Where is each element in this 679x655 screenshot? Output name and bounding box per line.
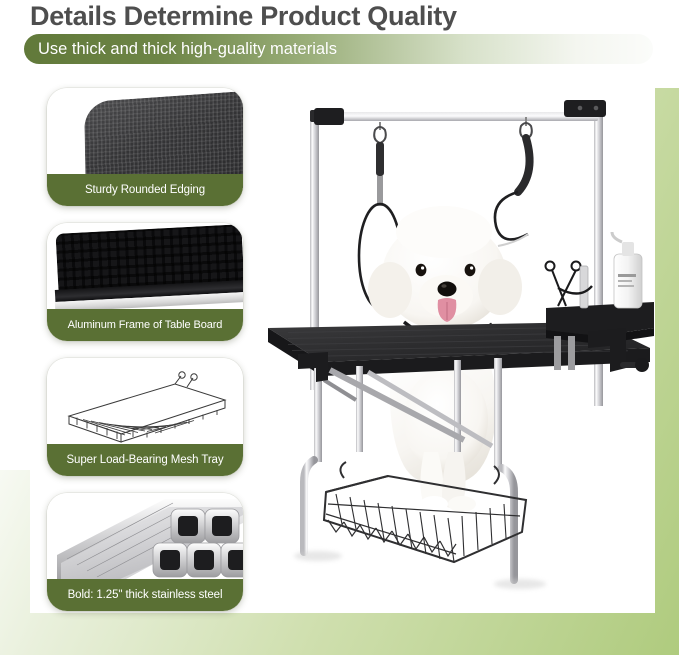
- subtitle-pill: Use thick and thick high-guality materia…: [24, 34, 653, 64]
- square-steel-tube-bundle-icon: [47, 493, 243, 585]
- grooming-loop-right: [495, 117, 532, 246]
- feature-card-aluminum-frame[interactable]: Aluminum Frame of Table Board: [47, 223, 243, 341]
- dog-nose: [438, 282, 457, 297]
- feature-card-rounded-edging[interactable]: Sturdy Rounded Edging: [47, 88, 243, 206]
- grooming-table-illustration: [258, 80, 658, 610]
- grooming-arm-crossbar: [318, 112, 598, 121]
- arm-joint-right: [564, 100, 606, 117]
- feature-card-mesh-tray[interactable]: Super Load-Bearing Mesh Tray: [47, 358, 243, 476]
- feature-label: Super Load-Bearing Mesh Tray: [66, 454, 223, 466]
- dog-eye-left: [416, 264, 427, 276]
- infographic-root: Details Determine Product Quality Use th…: [0, 0, 679, 655]
- subtitle-text: Use thick and thick high-guality materia…: [38, 40, 337, 59]
- feature-card-footer: Sturdy Rounded Edging: [47, 174, 243, 206]
- feature-card-footer: Bold: 1.25" thick stainless steel: [47, 579, 243, 611]
- feature-card-footer: Aluminum Frame of Table Board: [47, 309, 243, 341]
- white-left-band: [0, 0, 36, 470]
- wire-tray-icon: [63, 368, 231, 446]
- feature-card-list: Sturdy Rounded Edging Aluminum Frame of …: [47, 88, 243, 628]
- arm-joint-left: [314, 108, 344, 125]
- page-title: Details Determine Product Quality: [30, 1, 457, 32]
- feature-label: Aluminum Frame of Table Board: [68, 319, 223, 331]
- comb: [580, 266, 588, 308]
- feature-label: Bold: 1.25" thick stainless steel: [68, 589, 223, 601]
- dog-eye-right: [465, 264, 476, 276]
- feature-card-steel-tubes[interactable]: Bold: 1.25" thick stainless steel: [47, 493, 243, 611]
- product-photo: [258, 80, 658, 610]
- feature-card-footer: Super Load-Bearing Mesh Tray: [47, 444, 243, 476]
- scissors: [546, 262, 581, 307]
- feature-label: Sturdy Rounded Edging: [85, 184, 205, 196]
